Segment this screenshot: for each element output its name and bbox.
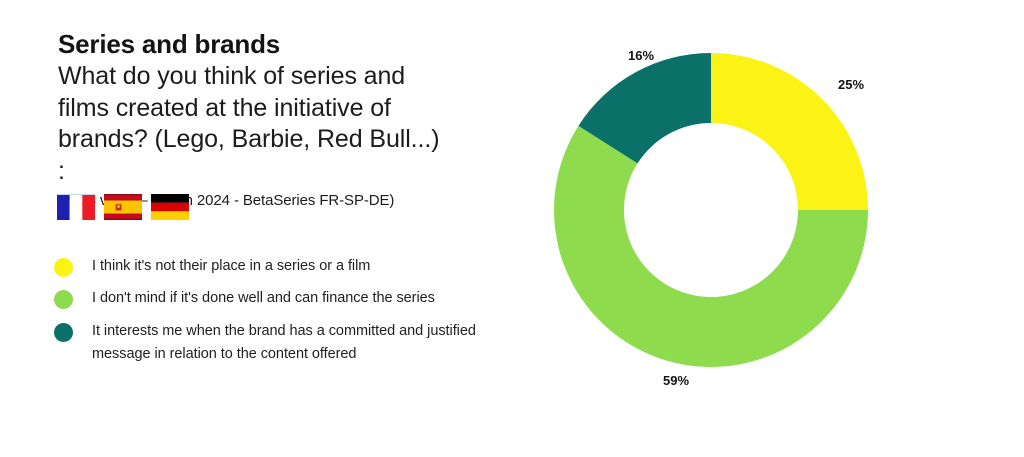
legend-swatch-green-icon xyxy=(54,290,73,309)
legend-label-3: It interests me when the brand has a com… xyxy=(92,320,532,367)
poll-text-column: Series and brands What do you think of s… xyxy=(58,30,538,211)
legend-label-2: I don't mind if it's done well and can f… xyxy=(92,287,435,310)
donut-chart: 25%59%16% xyxy=(540,18,920,418)
donut-value-label-1: 25% xyxy=(838,77,864,92)
flag-spain-icon xyxy=(104,194,142,220)
legend-swatch-yellow-icon xyxy=(54,258,73,277)
donut-chart-svg: 25%59%16% xyxy=(540,18,920,418)
legend-swatch-teal-icon xyxy=(54,323,73,342)
donut-slice-group xyxy=(554,53,868,367)
chart-legend: I think it's not their place in a series… xyxy=(54,257,554,378)
flag-germany-icon xyxy=(151,194,189,220)
donut-value-label-2: 59% xyxy=(663,373,689,388)
poll-question: What do you think of series and films cr… xyxy=(58,61,453,187)
legend-item-2: I don't mind if it's done well and can f… xyxy=(54,289,554,310)
language-flag-row xyxy=(57,194,189,220)
donut-value-label-3: 16% xyxy=(628,48,654,63)
flag-france-icon xyxy=(57,194,95,220)
legend-item-3: It interests me when the brand has a com… xyxy=(54,322,554,367)
page-title: Series and brands xyxy=(58,30,538,59)
poll-result-card: Series and brands What do you think of s… xyxy=(0,0,1024,457)
legend-item-1: I think it's not their place in a series… xyxy=(54,257,554,278)
legend-label-1: I think it's not their place in a series… xyxy=(92,255,370,278)
